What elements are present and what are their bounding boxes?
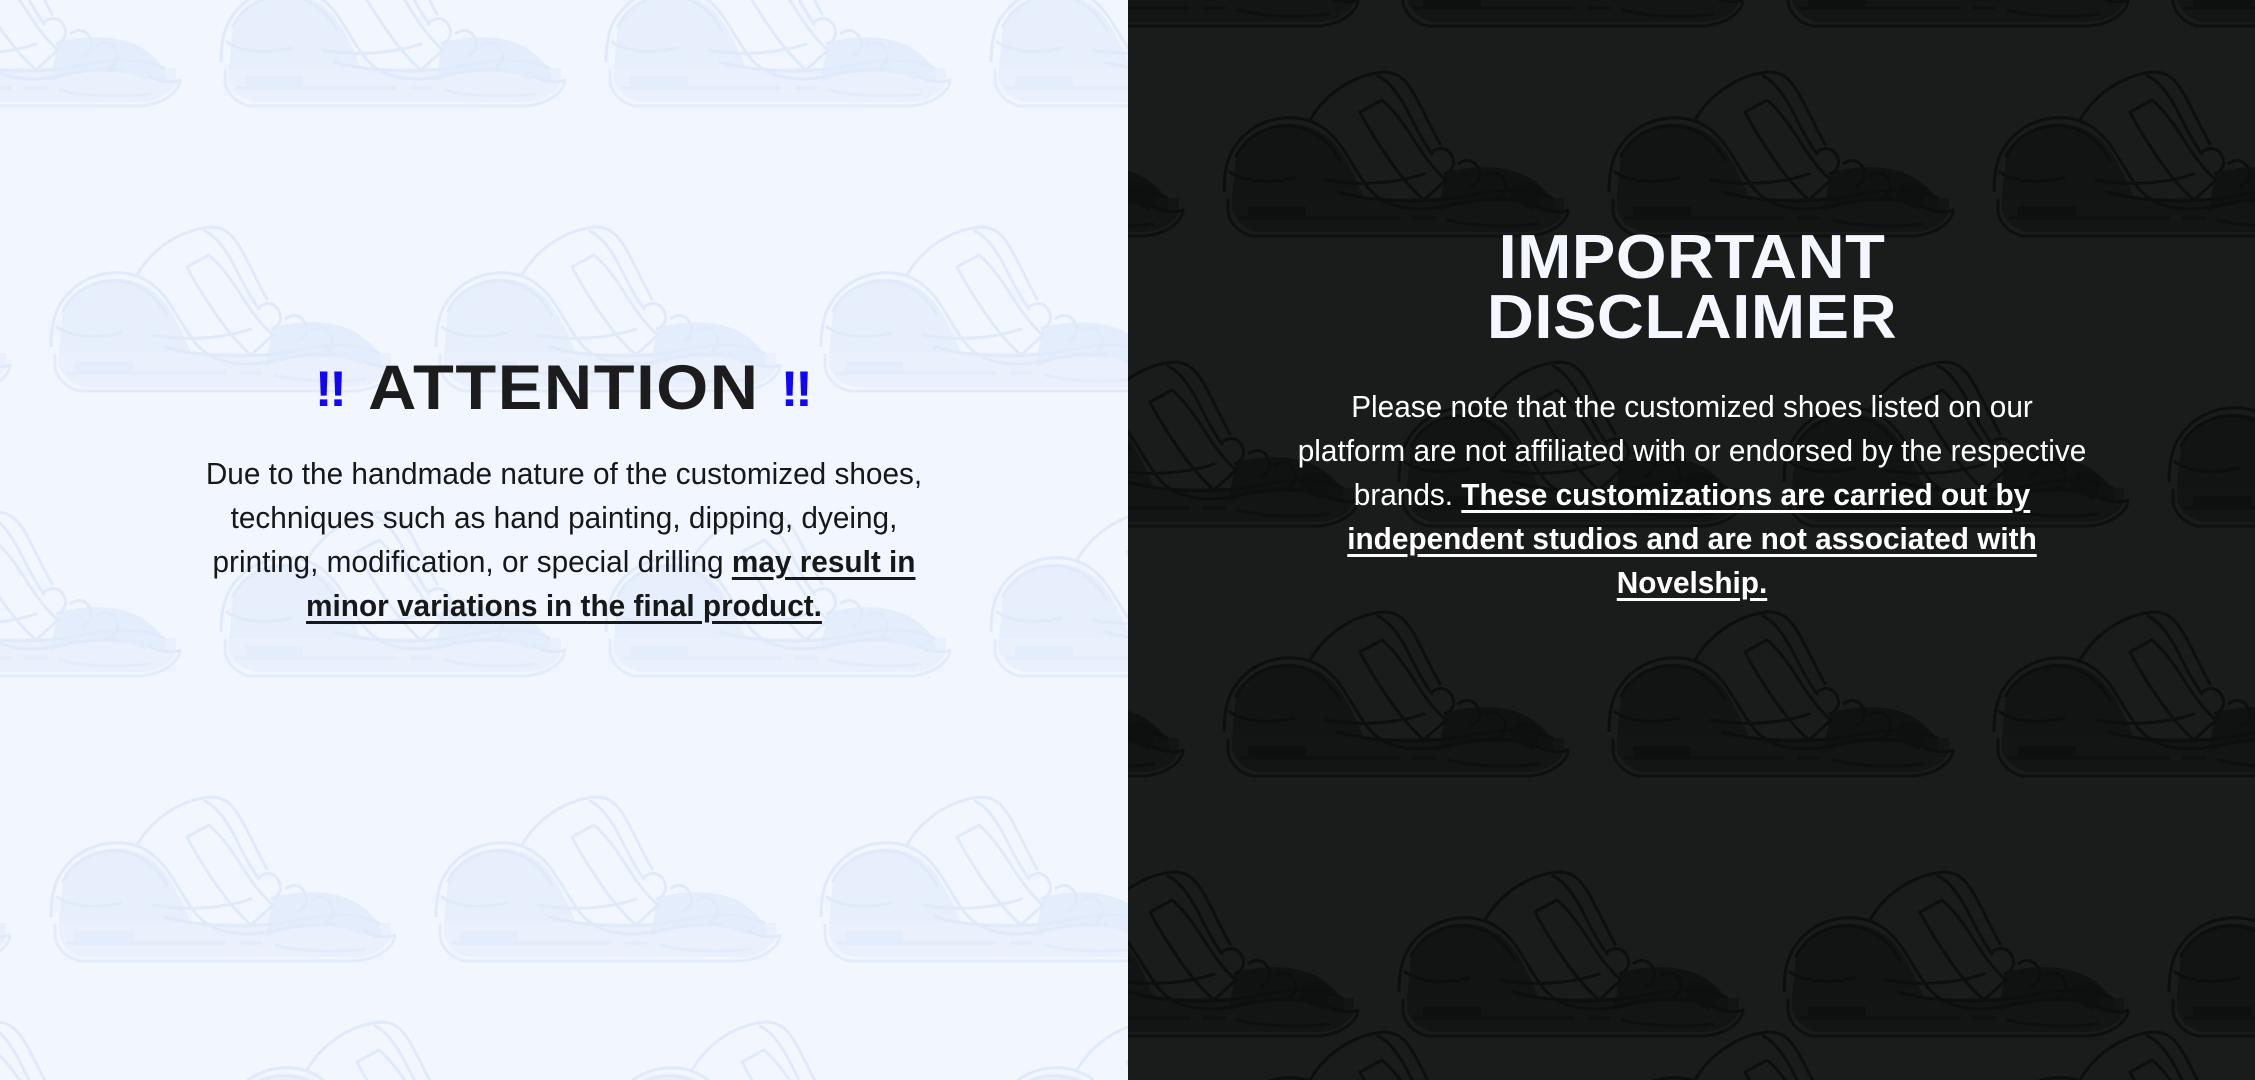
disclaimer-body: Please note that the customized shoes li…	[1293, 385, 2090, 605]
double-exclamation-icon-left: ‼	[315, 361, 347, 417]
disclaimer-heading: IMPORTANT DISCLAIMER	[1366, 228, 2017, 347]
attention-content: ‼ATTENTION‼ Due to the handmade nature o…	[0, 0, 1128, 1080]
attention-panel: ‼ATTENTION‼ Due to the handmade nature o…	[0, 0, 1128, 1080]
disclaimer-panel: IMPORTANT DISCLAIMER Please note that th…	[1128, 0, 2255, 1080]
split-disclaimer-banner: ‼ATTENTION‼ Due to the handmade nature o…	[0, 0, 2255, 1080]
double-exclamation-icon-right: ‼	[781, 361, 813, 417]
attention-body: Due to the handmade nature of the custom…	[185, 452, 943, 628]
attention-heading: ‼ATTENTION‼	[315, 357, 813, 420]
disclaimer-heading-line2: DISCLAIMER	[1486, 283, 1896, 352]
disclaimer-content: IMPORTANT DISCLAIMER Please note that th…	[1128, 0, 2255, 1080]
attention-heading-text: ATTENTION	[368, 353, 759, 423]
